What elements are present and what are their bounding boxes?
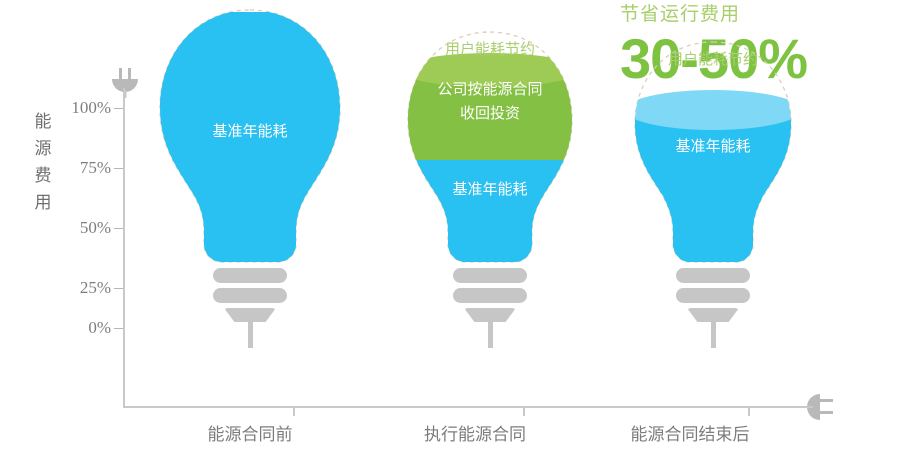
infographic-canvas: 节省运行费用 30-50% 能源费用 100% 75% 50% 25% 0% [0,0,900,473]
base-ring-upper [213,268,287,283]
plug-icon [110,68,140,98]
base-ring-upper [676,268,750,283]
y-tick-label-100: 100% [71,98,111,118]
y-tick-75 [114,168,123,169]
y-tick-label-0: 0% [88,318,111,338]
y-tick-0 [114,328,123,329]
base-cap [224,308,276,322]
y-tick-25 [114,288,123,289]
bulb-1-base [213,268,287,348]
bulb-2-base [453,268,527,348]
base-stem [248,322,253,348]
bulb-group-1: 基准年能耗 [150,0,350,473]
y-tick-label-50: 50% [80,218,111,238]
y-tick-label-75: 75% [80,158,111,178]
base-ring-upper [453,268,527,283]
bulb-3-base [676,268,750,348]
base-cap [687,308,739,322]
y-tick-50 [114,228,123,229]
base-ring-lower [453,288,527,303]
bulb-group-2: 用户能耗节约 公司按能源合同 收回投资 基准年能耗 [390,0,590,473]
base-ring-lower [676,288,750,303]
y-axis: 100% 75% 50% 25% 0% [123,88,125,408]
y-tick-100 [114,108,123,109]
base-stem [488,322,493,348]
bulb-group-3: 用户能耗节约 基准年能耗 [613,0,813,473]
base-stem [711,322,716,348]
base-cap [464,308,516,322]
y-tick-label-25: 25% [80,278,111,298]
base-ring-lower [213,288,287,303]
y-axis-title: 能源费用 [30,108,56,216]
